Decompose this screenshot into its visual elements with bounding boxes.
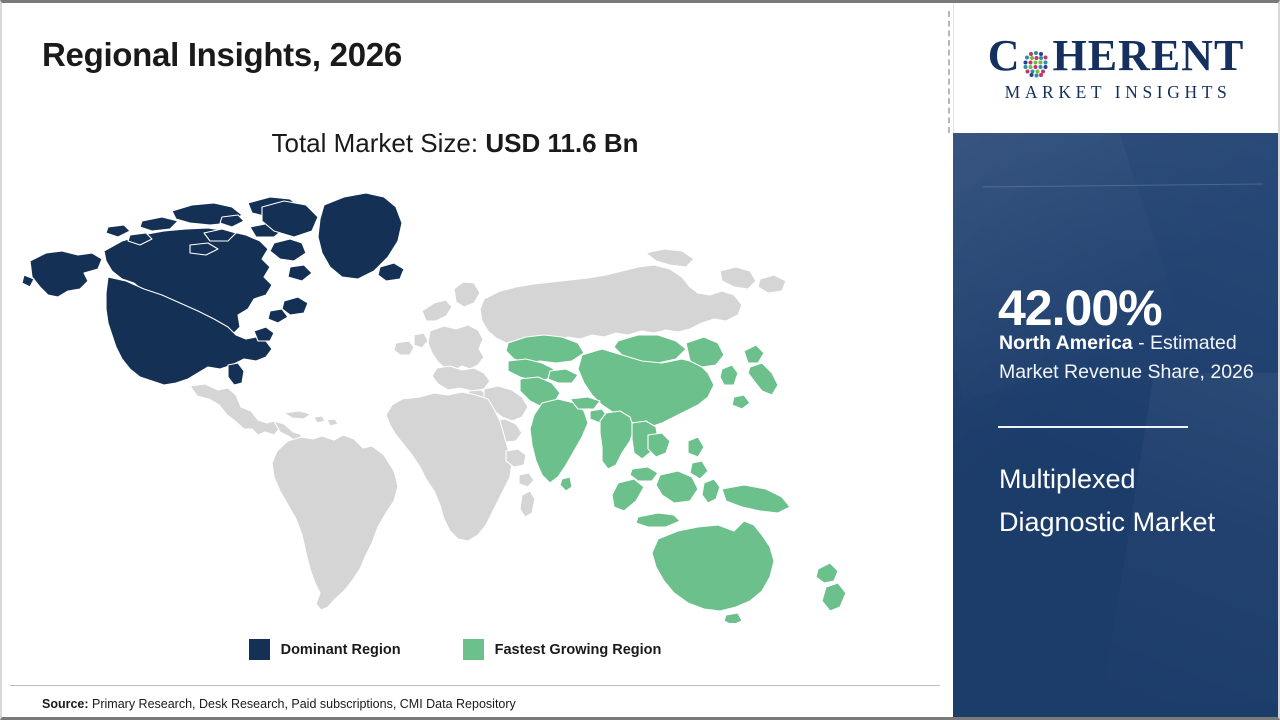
legend-label-fastest-growing: Fastest Growing Region bbox=[495, 642, 662, 658]
map-dominant-regions bbox=[22, 193, 404, 385]
logo-wordmark: C bbox=[988, 34, 1245, 78]
legend-item-fastest-growing: Fastest Growing Region bbox=[463, 639, 662, 660]
legend-label-dominant: Dominant Region bbox=[281, 642, 401, 658]
total-market-size-value: USD 11.6 Bn bbox=[485, 128, 638, 158]
brand-logo: C bbox=[953, 3, 1278, 133]
right-column: C bbox=[953, 3, 1278, 717]
map-legend: Dominant Region Fastest Growing Region bbox=[2, 639, 908, 660]
source-divider bbox=[10, 685, 940, 686]
market-name: Multiplexed Diagnostic Market bbox=[999, 458, 1249, 543]
map-growth-regions bbox=[506, 335, 846, 623]
logo-tagline: MARKET INSIGHTS bbox=[1001, 82, 1232, 103]
share-region-name: North America bbox=[999, 332, 1133, 354]
logo-letter-c: C bbox=[988, 34, 1021, 78]
source-line: Source: Primary Research, Desk Research,… bbox=[42, 697, 516, 711]
panel-texture-streak bbox=[983, 184, 1263, 188]
legend-swatch-dominant bbox=[249, 639, 270, 660]
world-map-svg bbox=[22, 183, 902, 623]
legend-item-dominant: Dominant Region bbox=[249, 639, 401, 660]
total-market-size: Total Market Size: USD 11.6 Bn bbox=[2, 128, 908, 159]
share-percentage: 42.00% bbox=[998, 283, 1162, 333]
stat-divider bbox=[998, 426, 1188, 428]
panel-divider bbox=[948, 11, 950, 133]
source-label: Source: bbox=[42, 697, 89, 711]
share-description: North America - Estimated Market Revenue… bbox=[999, 329, 1264, 387]
legend-swatch-fastest-growing bbox=[463, 639, 484, 660]
logo-letters-herent: HERENT bbox=[1052, 34, 1244, 78]
left-panel: Regional Insights, 2026 Total Market Siz… bbox=[2, 3, 948, 717]
source-text: Primary Research, Desk Research, Paid su… bbox=[89, 697, 516, 711]
page-title: Regional Insights, 2026 bbox=[42, 36, 402, 74]
total-market-size-label: Total Market Size: bbox=[271, 128, 485, 158]
globe-dots-icon bbox=[1021, 43, 1051, 73]
infographic-slide: Regional Insights, 2026 Total Market Siz… bbox=[0, 0, 1280, 720]
stat-panel: 42.00% North America - Estimated Market … bbox=[953, 133, 1278, 717]
world-map bbox=[22, 183, 902, 623]
